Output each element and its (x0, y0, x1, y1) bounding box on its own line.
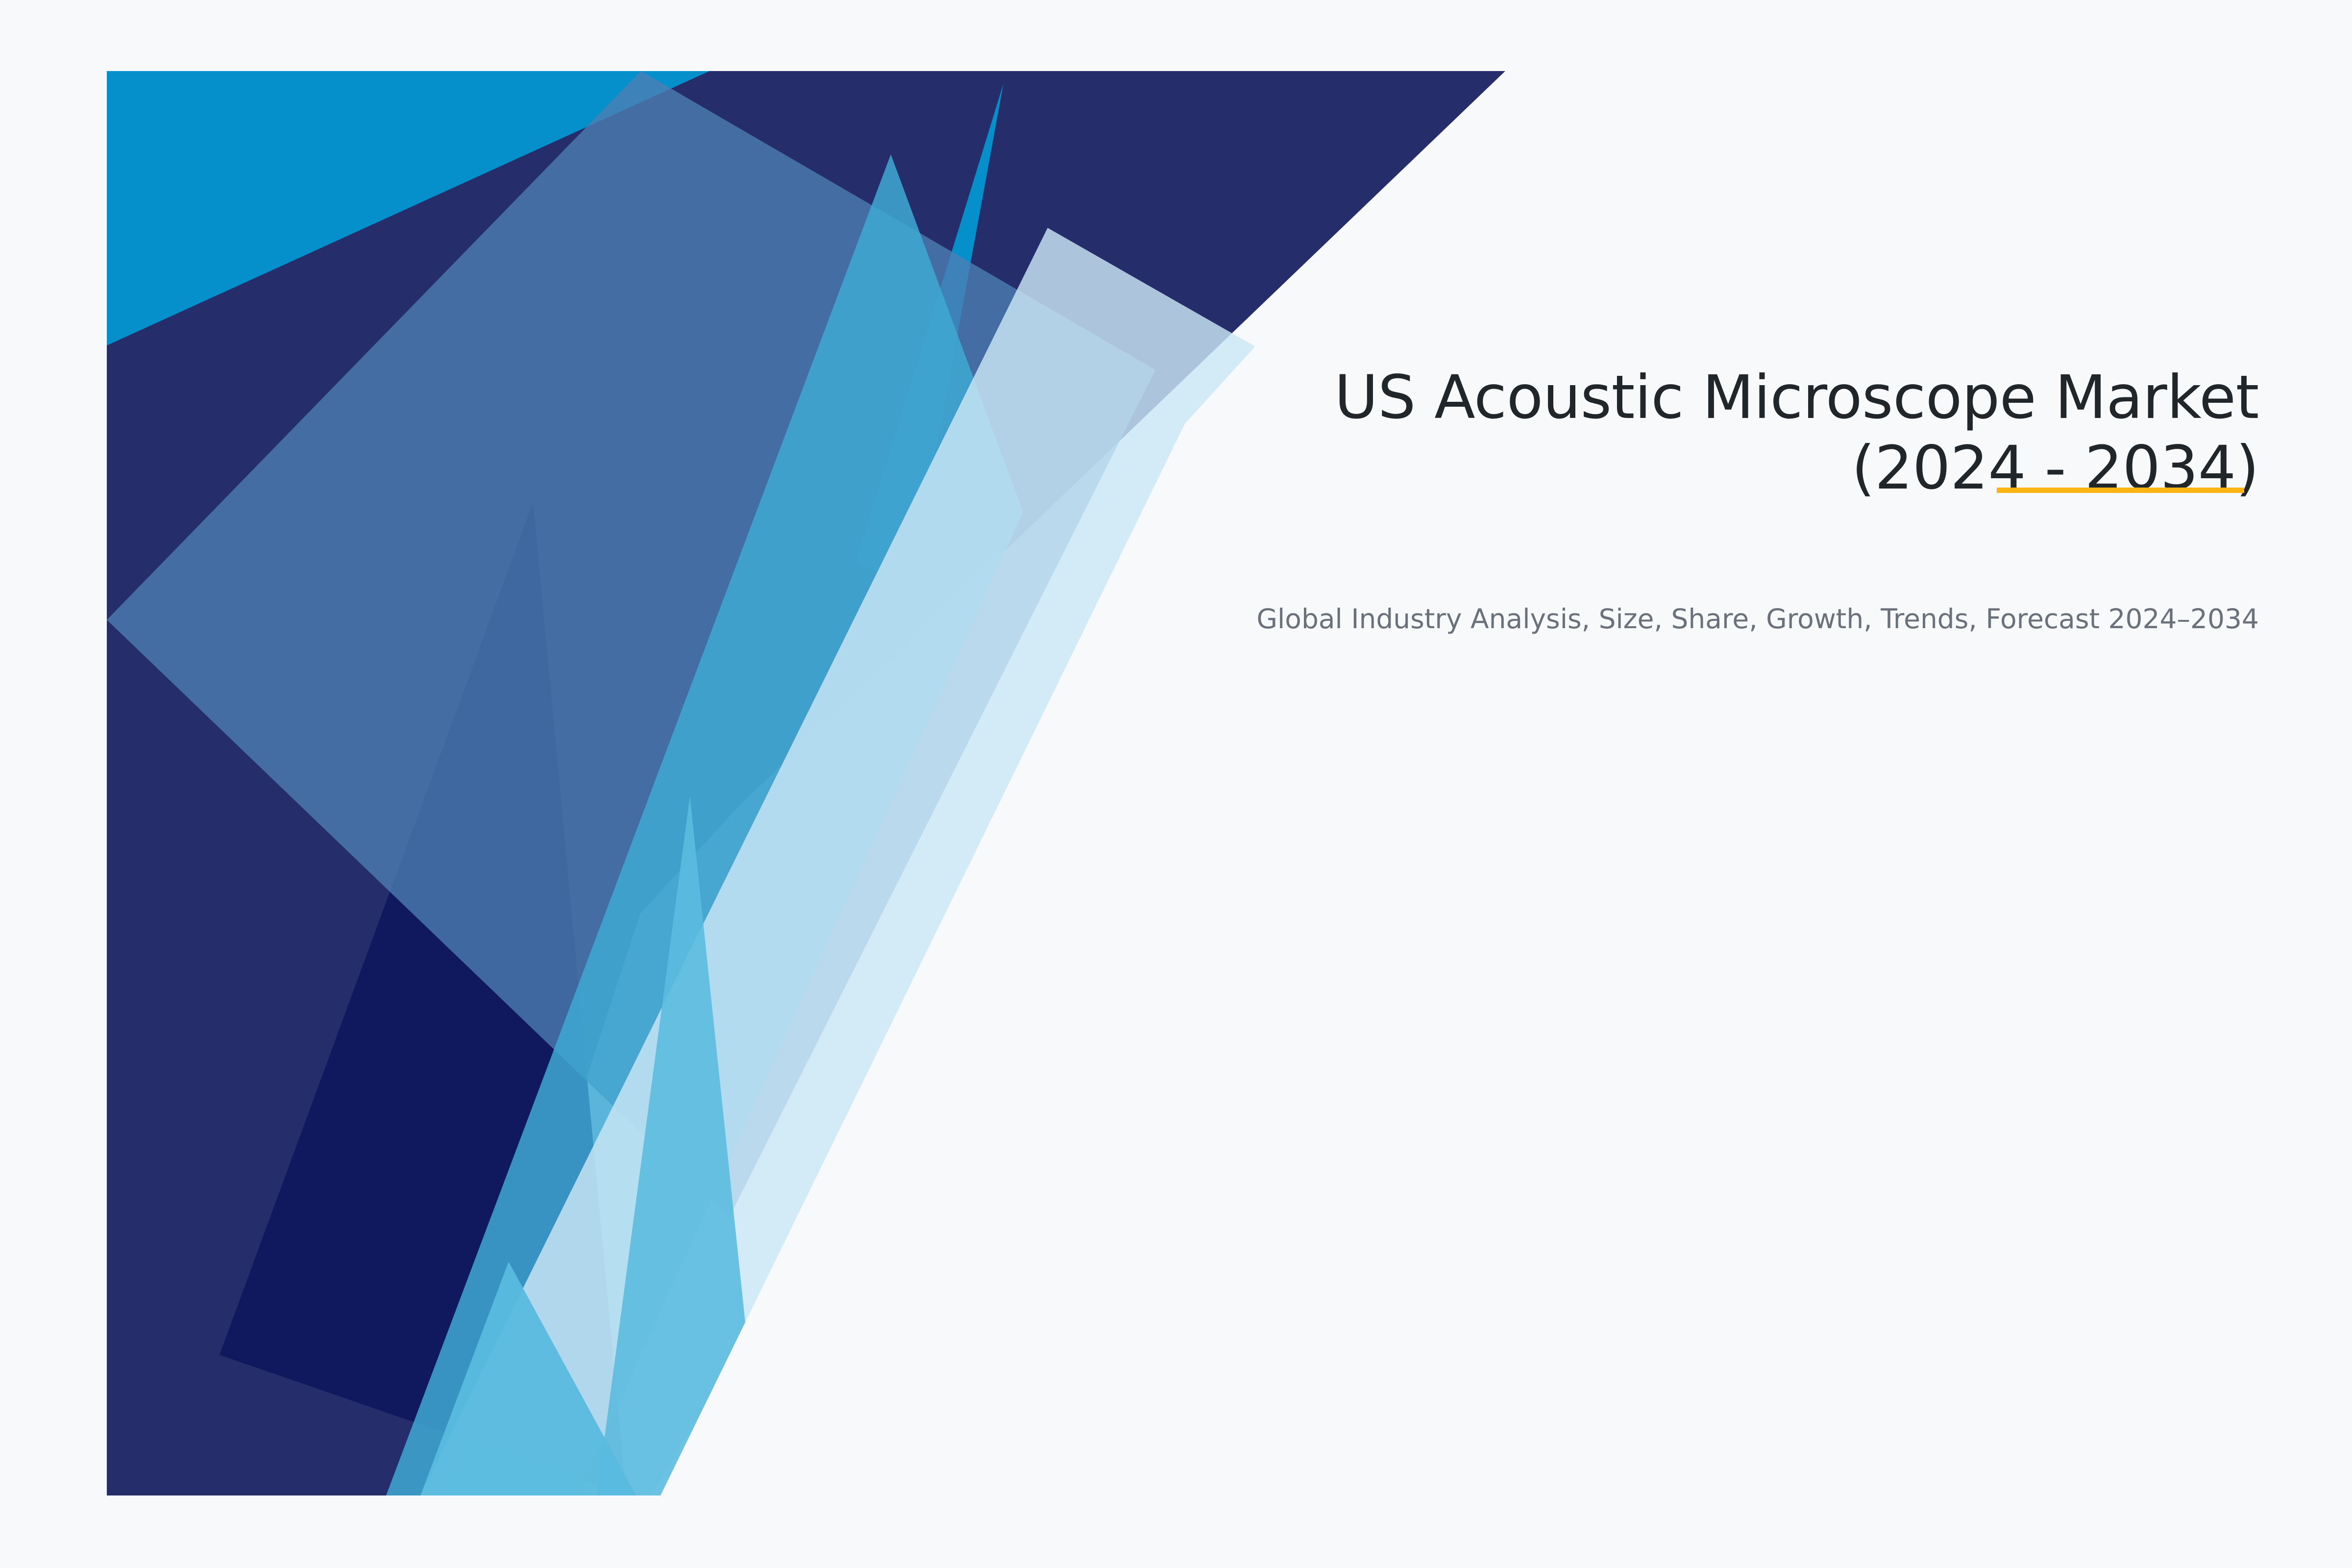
cover-text-column: US Acoustic Microscope Market (2024 - 20… (1254, 363, 2259, 638)
page-subtitle: Global Industry Analysis, Size, Share, G… (1254, 504, 2259, 638)
geometric-shapes-svg (107, 71, 1506, 1495)
title-wrap: US Acoustic Microscope Market (2024 - 20… (1254, 363, 2259, 504)
abstract-geometric-banner (107, 71, 1506, 1495)
report-cover-slide: US Acoustic Microscope Market (2024 - 20… (0, 0, 2352, 1568)
title-underline-accent (1997, 488, 2244, 493)
page-title: US Acoustic Microscope Market (2024 - 20… (1254, 363, 2259, 504)
